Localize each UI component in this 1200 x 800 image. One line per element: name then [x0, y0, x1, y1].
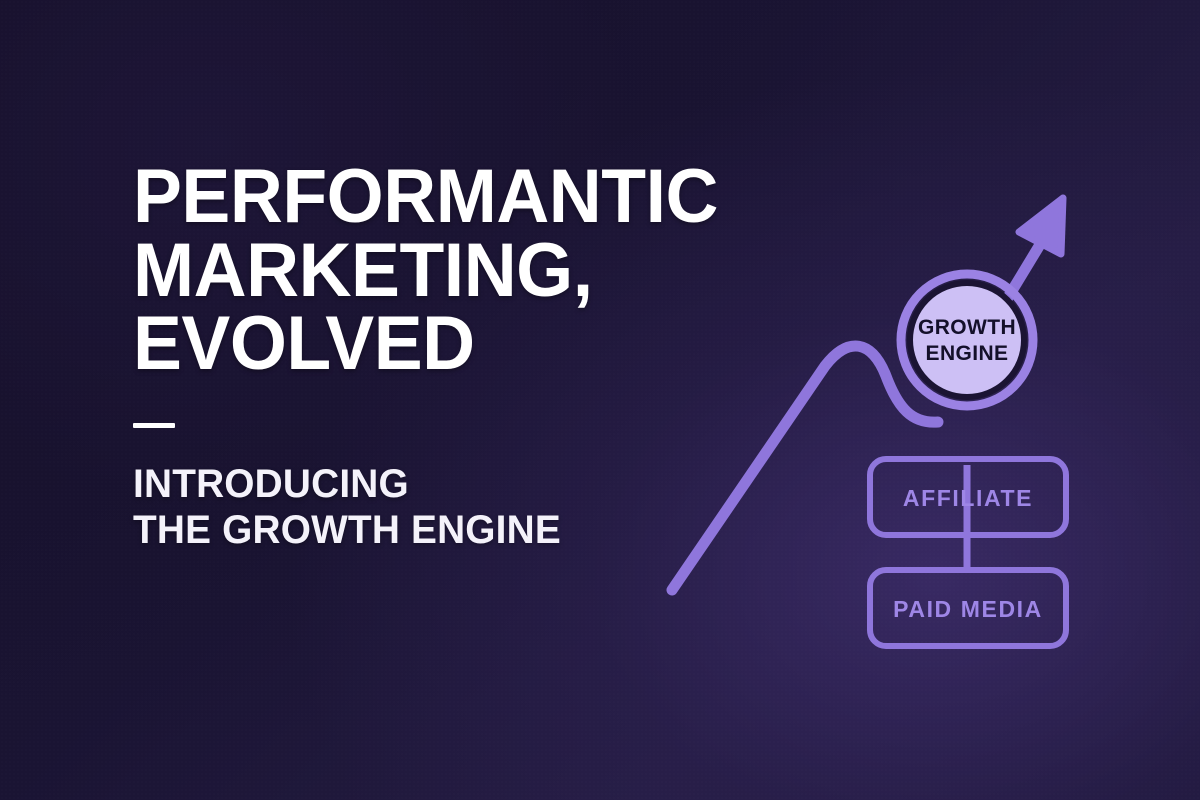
growth-engine-diagram: Growth Engine Affiliate Paid Media — [620, 150, 1180, 710]
divider-rule — [133, 423, 175, 428]
growth-circle-body[interactable] — [910, 283, 1024, 397]
growth-circle-label-line1: Growth — [918, 316, 1016, 339]
arrowhead-icon — [1019, 198, 1063, 254]
box-affiliate-label: Affiliate — [903, 485, 1033, 511]
trend-curve — [672, 346, 938, 590]
growth-circle-label-line2: Engine — [926, 342, 1009, 365]
box-paid-media-label: Paid Media — [893, 596, 1043, 622]
poster-canvas: Performantic Marketing, Evolved Introduc… — [0, 0, 1200, 800]
